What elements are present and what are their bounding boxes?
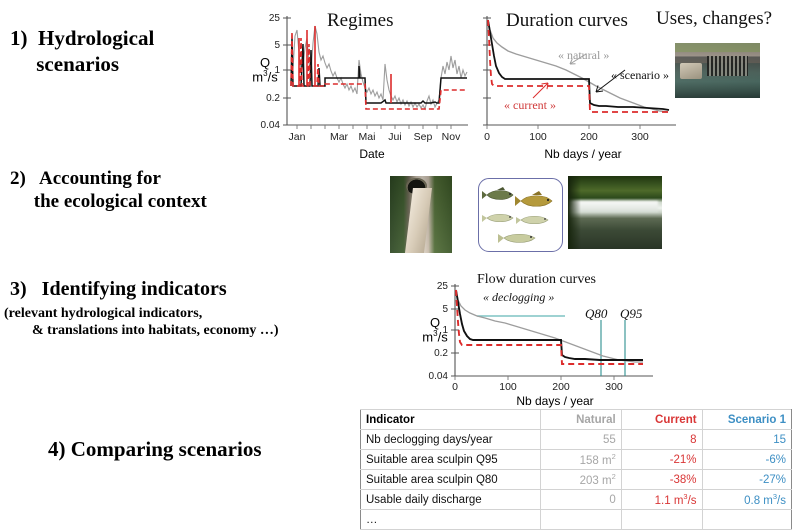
chart-regimes: Regimes 25 5 1 0.2 0.04 <box>255 8 470 138</box>
cell-indicator: Suitable area sculpin Q80 <box>361 470 541 490</box>
svg-text:0.04: 0.04 <box>261 120 281 131</box>
svg-text:Mai: Mai <box>359 131 376 143</box>
svg-text:300: 300 <box>605 381 623 393</box>
svg-text:200: 200 <box>552 381 570 393</box>
section-1-heading: 1) Hydrological scenarios <box>10 26 154 77</box>
table-row: Suitable area sculpin Q80203 m2-38%-27% <box>361 470 792 490</box>
annot-q80: Q80 <box>585 306 607 322</box>
fish-icon <box>482 187 513 200</box>
table-row: Suitable area sculpin Q95158 m2-21%-6% <box>361 450 792 470</box>
svg-text:0.2: 0.2 <box>434 348 448 359</box>
section-4-heading: 4) Comparing scenarios <box>48 437 262 463</box>
svg-text:100: 100 <box>529 131 547 143</box>
cell-natural: 0 <box>541 490 622 510</box>
fish-icon <box>516 216 548 224</box>
chart-duration: Duration curves 0 100 200 300 <box>478 8 678 138</box>
fish-species-box <box>478 178 563 252</box>
svg-text:0: 0 <box>484 131 490 143</box>
cell-current: -21% <box>621 450 702 470</box>
river-rapids-photo <box>568 176 662 249</box>
chart-regimes-ylabel: Q m3/s <box>243 56 287 84</box>
cell-indicator: Usable daily discharge <box>361 490 541 510</box>
svg-text:100: 100 <box>499 381 517 393</box>
cell-indicator: Nb declogging days/year <box>361 430 541 450</box>
annot-declogging: « declogging » <box>483 290 554 305</box>
svg-text:0.2: 0.2 <box>266 93 280 104</box>
annot-natural: « natural » <box>558 48 609 63</box>
slide-canvas: 1) Hydrological scenarios 2) Accounting … <box>0 0 800 520</box>
svg-text:200: 200 <box>580 131 598 143</box>
col-header-indicator: Indicator <box>361 410 541 430</box>
svg-text:Sep: Sep <box>414 131 433 143</box>
chart-duration-xlabel: Nb days / year <box>523 147 643 161</box>
fish-icon <box>498 234 535 243</box>
chart-flowduration-title: Flow duration curves <box>477 272 596 288</box>
fish-icons <box>479 179 562 251</box>
uses-changes-caption: Uses, changes? <box>656 8 772 30</box>
table-row: Nb declogging days/year55815 <box>361 430 792 450</box>
svg-text:0: 0 <box>452 381 458 393</box>
cell-indicator: Suitable area sculpin Q95 <box>361 450 541 470</box>
section-2-heading: 2) Accounting for the ecological context <box>10 167 207 213</box>
comparison-table: Indicator Natural Current Scenario 1 Nb … <box>360 409 792 530</box>
fish-icon <box>482 214 513 222</box>
annot-current: « current » <box>504 98 556 113</box>
chart-flowduration-ylabel: Q m3/s <box>413 316 457 344</box>
cell-natural: 55 <box>541 430 622 450</box>
annot-q95: Q95 <box>620 306 642 322</box>
cell-scenario: -6% <box>702 450 791 470</box>
water-intake-weir-photo <box>675 43 760 98</box>
svg-text:5: 5 <box>274 40 280 51</box>
section-3-subheading: (relevant hydrological indicators, & tra… <box>4 305 279 339</box>
svg-text:25: 25 <box>269 13 281 24</box>
svg-text:Jui: Jui <box>388 131 401 143</box>
cell-scenario: 0.8 m3/s <box>702 490 791 510</box>
cell-scenario: 15 <box>702 430 791 450</box>
fish-icon <box>515 191 552 206</box>
svg-text:5: 5 <box>442 304 448 315</box>
section-3-heading: 3) Identifying indicators <box>10 277 227 301</box>
chart-regimes-title: Regimes <box>327 10 394 32</box>
chart-regimes-xlabel: Date <box>327 147 417 161</box>
table-row: Usable daily discharge01.1 m3/s0.8 m3/s <box>361 490 792 510</box>
cell-scenario: -27% <box>702 470 791 490</box>
svg-text:300: 300 <box>631 131 649 143</box>
cell-current: 8 <box>621 430 702 450</box>
cell-natural: 158 m2 <box>541 450 622 470</box>
svg-text:Jan: Jan <box>289 131 306 143</box>
chart-flowduration: Flow duration curves 25 5 1 0.2 0.04 <box>415 272 655 392</box>
svg-text:Mar: Mar <box>330 131 349 143</box>
svg-text:Nov: Nov <box>442 131 461 143</box>
cell-current: 1.1 m3/s <box>621 490 702 510</box>
chart-duration-title: Duration curves <box>506 10 628 32</box>
table-header-row: Indicator Natural Current Scenario 1 <box>361 410 792 430</box>
cell-current: -38% <box>621 470 702 490</box>
col-header-current: Current <box>621 410 702 430</box>
svg-text:25: 25 <box>437 281 449 292</box>
discharge-pipe-photo <box>390 176 452 253</box>
svg-text:0.04: 0.04 <box>429 371 449 382</box>
col-header-natural: Natural <box>541 410 622 430</box>
chart-flowduration-xlabel: Nb days / year <box>490 394 620 408</box>
col-header-scenario: Scenario 1 <box>702 410 791 430</box>
cell-natural: 203 m2 <box>541 470 622 490</box>
annot-scenario: « scenario » <box>611 68 669 83</box>
